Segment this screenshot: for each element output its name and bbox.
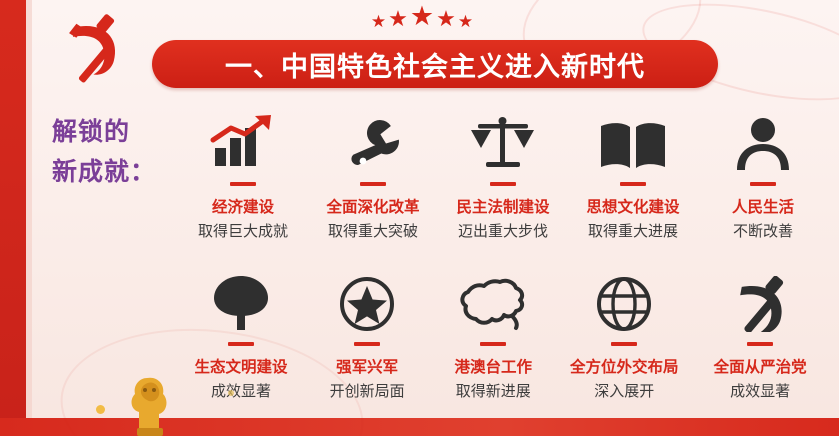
divider (490, 182, 516, 186)
left-red-band (0, 0, 26, 436)
divider (354, 342, 380, 346)
achievement-desc: 取得新进展 (456, 380, 531, 401)
achievement-desc: 开创新局面 (330, 380, 405, 401)
achievement-title: 全面深化改革 (326, 195, 419, 217)
achievement-desc: 不断改善 (733, 220, 793, 241)
achievement-title: 强军兴军 (336, 355, 398, 377)
achievement-title: 思想文化建设 (586, 195, 679, 217)
title-banner: 一、中国特色社会主义进入新时代 (152, 40, 718, 88)
section-label: 解锁的 新成就： (52, 112, 182, 192)
banner-title: 一、中国特色社会主义进入新时代 (225, 45, 645, 84)
scales-of-justice-icon (468, 110, 538, 172)
section-label-line1: 解锁的 (52, 118, 130, 146)
achievement-item: 港澳台工作 取得新进展 (430, 270, 556, 401)
achievement-desc: 取得重大进展 (588, 220, 678, 241)
achievement-item: 全面从严治党 成效显著 (692, 270, 828, 401)
stone-lion-icon (118, 366, 180, 436)
divider (750, 182, 776, 186)
china-map-icon (456, 270, 530, 332)
star-badge-icon (338, 270, 396, 332)
achievements-row-1: 经济建设 取得巨大成就 全面深化改革 取得重大突破 (178, 110, 828, 241)
achievement-title: 全面从严治党 (714, 355, 807, 377)
achievement-item: 强军兴军 开创新局面 (304, 270, 430, 401)
decorative-dot (228, 390, 234, 396)
cpc-party-emblem-icon (56, 10, 132, 86)
achievement-desc: 取得重大突破 (328, 220, 418, 241)
achievement-desc: 迈出重大步伐 (458, 220, 548, 241)
achievement-desc: 取得巨大成就 (198, 220, 288, 241)
achievement-desc: 成效显著 (211, 380, 271, 401)
decorative-dot (96, 405, 105, 414)
achievement-item: 思想文化建设 取得重大进展 (568, 110, 698, 241)
divider (611, 342, 637, 346)
person-icon (733, 110, 793, 172)
divider (747, 342, 773, 346)
achievement-title: 人民生活 (732, 195, 794, 217)
tree-icon (208, 270, 274, 332)
globe-icon (595, 270, 653, 332)
achievement-title: 港澳台工作 (455, 355, 533, 377)
achievement-item: 全方位外交布局 深入展开 (556, 270, 692, 401)
achievement-title: 民主法制建设 (456, 195, 549, 217)
achievement-item: 人民生活 不断改善 (698, 110, 828, 241)
divider (480, 342, 506, 346)
divider (228, 342, 254, 346)
achievement-item: 全面深化改革 取得重大突破 (308, 110, 438, 241)
achievement-item: 生态文明建设 成效显著 (178, 270, 304, 401)
left-band-highlight (26, 0, 32, 436)
achievement-title: 生态文明建设 (195, 355, 288, 377)
poster-root: ★ ★ ★ ★ ★ 一、中国特色社会主义进入新时代 解锁的 新成就： (0, 0, 839, 436)
achievement-item: 民主法制建设 迈出重大步伐 (438, 110, 568, 241)
divider (360, 182, 386, 186)
section-label-line2: 新成就： (52, 152, 182, 192)
divider (620, 182, 646, 186)
achievement-title: 经济建设 (212, 195, 274, 217)
achievement-desc: 成效显著 (730, 380, 790, 401)
achievement-desc: 深入展开 (594, 380, 654, 401)
growth-chart-icon (205, 110, 281, 172)
five-stars-icon: ★ ★ ★ ★ ★ (352, 2, 492, 30)
divider (230, 182, 256, 186)
achievement-item: 经济建设 取得巨大成就 (178, 110, 308, 241)
achievements-row-2: 生态文明建设 成效显著 强军兴军 开创新局面 港澳台工作 (178, 270, 828, 401)
wrench-icon (338, 110, 408, 172)
achievement-title: 全方位外交布局 (570, 355, 679, 377)
hammer-sickle-icon (729, 270, 791, 332)
open-book-icon (597, 110, 669, 172)
